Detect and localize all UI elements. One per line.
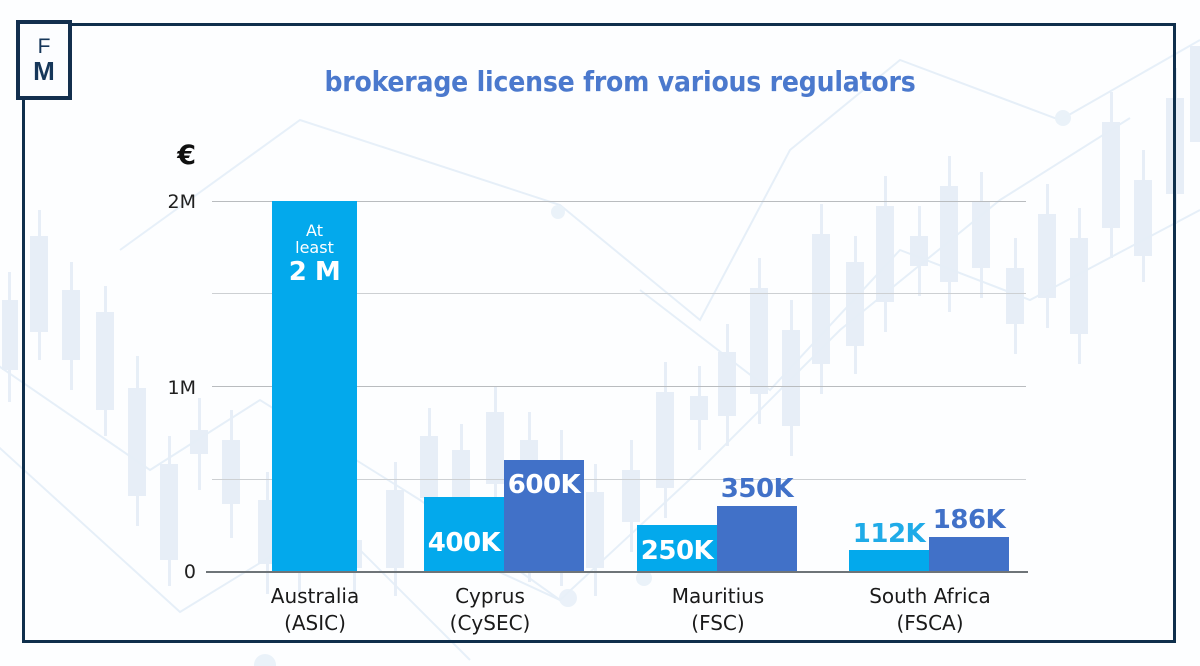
bar-cyprus-low[interactable]: 400K: [424, 497, 504, 571]
plot-area: At least 2 M 400K 600K 250K 350K 112K 18…: [212, 201, 1026, 571]
bar-label-australia-line2: least: [272, 240, 357, 257]
x-axis-label-australia: Australia (ASIC): [215, 583, 415, 637]
bar-mauritius-high[interactable]: [717, 506, 797, 571]
x-axis-label-cyprus-regulator: (CySEC): [390, 610, 590, 637]
bar-label-australia: At least 2 M: [272, 223, 357, 286]
x-axis-label-cyprus: Cyprus (CySEC): [390, 583, 590, 637]
y-axis-unit-euro: €: [136, 140, 196, 171]
fm-logo-letter-f: F: [38, 36, 51, 57]
bar-southafrica-low[interactable]: [849, 550, 929, 571]
bar-label-cyprus-high: 600K: [504, 470, 584, 500]
x-axis-label-southafrica: South Africa (FSCA): [830, 583, 1030, 637]
x-axis-label-australia-country: Australia: [215, 583, 415, 610]
chart-title: brokerage license from various regulator…: [200, 64, 1040, 101]
y-axis-tick-0: 0: [136, 561, 196, 583]
fm-logo-letter-m: M: [33, 58, 55, 84]
y-axis-tick-1m: 1M: [136, 377, 196, 399]
bar-australia-low[interactable]: At least 2 M: [272, 201, 357, 571]
bar-mauritius-low[interactable]: 250K: [637, 525, 717, 571]
bar-cyprus-high[interactable]: 600K: [504, 460, 584, 571]
bar-label-southafrica-high: 186K: [904, 505, 1034, 535]
fm-logo: F M: [16, 20, 72, 100]
bar-label-mauritius-high: 350K: [692, 474, 822, 504]
x-axis-label-mauritius-regulator: (FSC): [618, 610, 818, 637]
x-axis-label-southafrica-regulator: (FSCA): [830, 610, 1030, 637]
y-axis-tick-2m: 2M: [136, 191, 196, 213]
x-axis-baseline: [206, 571, 1028, 573]
bar-southafrica-high[interactable]: [929, 537, 1009, 571]
x-axis-label-southafrica-country: South Africa: [830, 583, 1030, 610]
chart-title-line-2: brokerage license from various regulator…: [200, 64, 1040, 101]
x-axis-label-australia-regulator: (ASIC): [215, 610, 415, 637]
x-axis-label-cyprus-country: Cyprus: [390, 583, 590, 610]
x-axis-label-mauritius: Mauritius (FSC): [618, 583, 818, 637]
chart-canvas: F M brokerage license from various regul…: [0, 0, 1200, 666]
x-axis-label-mauritius-country: Mauritius: [618, 583, 818, 610]
bar-label-cyprus-low: 400K: [424, 528, 504, 558]
bar-label-mauritius-low: 250K: [637, 536, 717, 566]
bar-label-australia-value: 2 M: [272, 259, 357, 287]
